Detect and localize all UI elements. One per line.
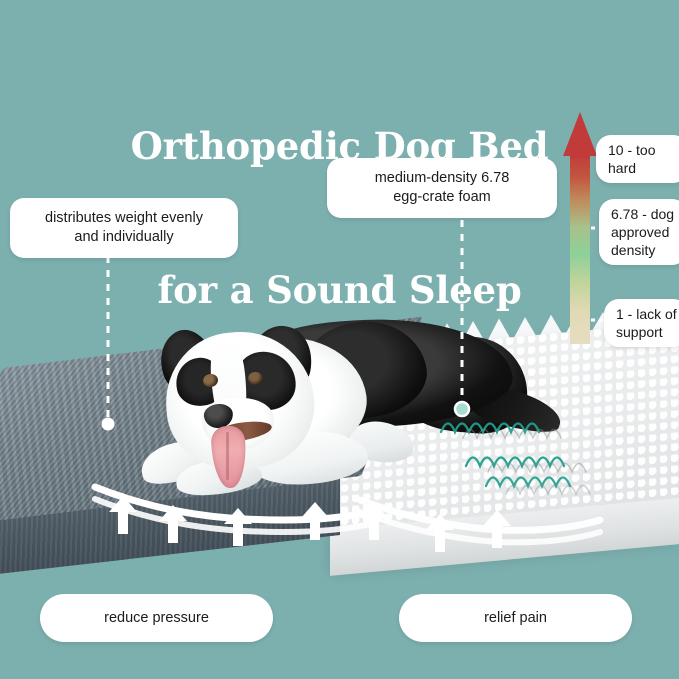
- scale-label-dog-approved-line-3: density: [611, 242, 655, 258]
- scale-label-dog-approved-line-1: 6.78 - dog: [611, 206, 674, 222]
- scale-label-lack-of-support[interactable]: 1 - lack of support: [604, 299, 679, 347]
- scale-label-too-hard-line-1: 10 - too hard: [608, 142, 655, 176]
- scale-label-lack-of-support-line-1: 1 - lack of: [616, 306, 677, 322]
- badge-reduce-pressure[interactable]: reduce pressure: [40, 594, 273, 642]
- callout-egg-crate-foam[interactable]: medium-density 6.78 egg-crate foam: [327, 158, 557, 218]
- infographic-canvas: Orthopedic Dog Bed for a Sound Sleep: [0, 0, 679, 679]
- callout-egg-crate-foam-line-1: medium-density 6.78: [339, 169, 545, 188]
- badge-reduce-pressure-label: reduce pressure: [40, 594, 273, 642]
- callout-egg-crate-foam-line-2: egg-crate foam: [339, 188, 545, 207]
- scale-label-dog-approved-line-2: approved: [611, 224, 669, 240]
- callout-distributes-weight-line-1: distributes weight evenly: [22, 209, 226, 228]
- callout-distributes-weight-line-2: and individually: [22, 228, 226, 247]
- badge-relief-pain-label: relief pain: [399, 594, 632, 642]
- badge-relief-pain[interactable]: relief pain: [399, 594, 632, 642]
- scale-label-too-hard[interactable]: 10 - too hard: [596, 135, 679, 183]
- dog-tongue-crease: [226, 432, 229, 480]
- density-scale-arrow: [563, 112, 597, 344]
- scale-label-dog-approved[interactable]: 6.78 - dog approved density: [599, 199, 679, 265]
- callout-distributes-weight[interactable]: distributes weight evenly and individual…: [10, 198, 238, 258]
- scale-label-lack-of-support-line-2: support: [616, 324, 663, 340]
